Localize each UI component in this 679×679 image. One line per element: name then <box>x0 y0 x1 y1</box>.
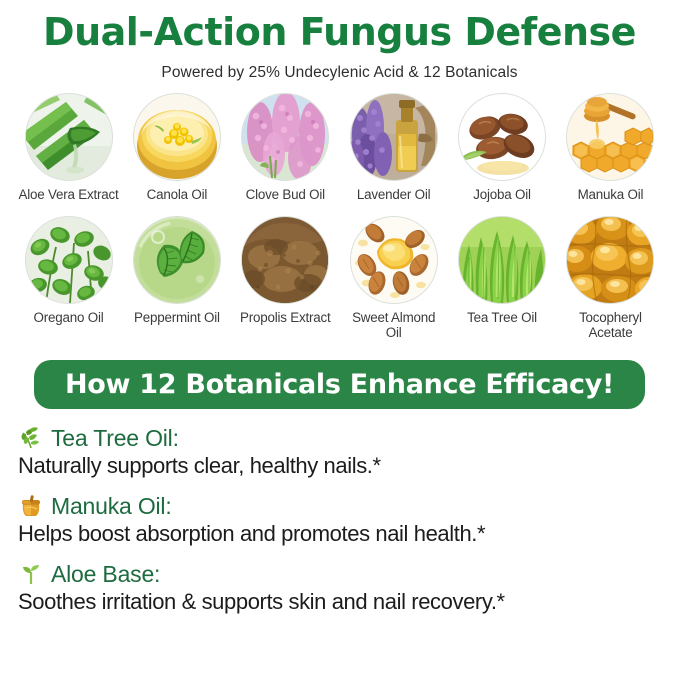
botanical-label: Lavender Oil <box>357 187 431 203</box>
botanical-label: Sweet Almond Oil <box>343 310 444 341</box>
canola-oil-art <box>134 94 220 180</box>
infographic-page: Dual-Action Fungus Defense Powered by 25… <box>0 0 679 679</box>
banner-text: How 12 Botanicals Enhance Efficacy! <box>65 369 614 400</box>
sweet-almond-art <box>351 217 437 303</box>
benefit-manuka-oil: Manuka Oil: Helps boost absorption and p… <box>18 493 661 547</box>
botanical-item-jojoba-oil: Jojoba Oil <box>452 94 553 203</box>
botanicals-grid: Aloe Vera Extract <box>0 94 679 341</box>
botanical-label: Jojoba Oil <box>473 187 531 203</box>
benefit-title: Aloe Base: <box>51 561 160 588</box>
botanical-item-tea-tree: Tea Tree Oil <box>452 217 553 326</box>
benefit-title: Manuka Oil: <box>51 493 172 520</box>
botanical-label: Tocopheryl Acetate <box>560 310 661 341</box>
propolis-extract-art <box>242 217 328 303</box>
oregano-oil-art <box>26 217 112 303</box>
benefits-list: Tea Tree Oil: Naturally supports clear, … <box>0 425 679 615</box>
lavender-oil-circle <box>351 94 437 180</box>
botanical-label: Clove Bud Oil <box>246 187 325 203</box>
tea-tree-circle <box>459 217 545 303</box>
botanical-item-peppermint-oil: Peppermint Oil <box>126 217 227 326</box>
manuka-oil-circle <box>567 94 653 180</box>
benefit-tea-tree-oil: Tea Tree Oil: Naturally supports clear, … <box>18 425 661 479</box>
benefit-aloe-base: Aloe Base: Soothes irritation & supports… <box>18 561 661 615</box>
botanical-label: Tea Tree Oil <box>467 310 537 326</box>
banner-container: How 12 Botanicals Enhance Efficacy! <box>0 360 679 409</box>
botanical-item-sweet-almond: Sweet Almond Oil <box>343 217 444 341</box>
benefit-heading-row: Aloe Base: <box>18 561 661 588</box>
botanical-item-manuka-oil: Manuka Oil <box>560 94 661 203</box>
botanical-item-lavender-oil: Lavender Oil <box>343 94 444 203</box>
canola-oil-circle <box>134 94 220 180</box>
benefit-heading-row: Tea Tree Oil: <box>18 425 661 452</box>
botanical-label: Propolis Extract <box>240 310 331 326</box>
botanical-item-clove-bud: Clove Bud Oil <box>235 94 336 203</box>
herb-leaf-icon <box>18 425 44 451</box>
sweet-almond-circle <box>351 217 437 303</box>
lavender-oil-art <box>351 94 437 180</box>
botanical-label: Peppermint Oil <box>134 310 220 326</box>
jojoba-oil-circle <box>459 94 545 180</box>
benefit-title: Tea Tree Oil: <box>51 425 179 452</box>
page-subtitle: Powered by 25% Undecylenic Acid & 12 Bot… <box>0 64 679 82</box>
peppermint-oil-circle <box>134 217 220 303</box>
efficacy-banner: How 12 Botanicals Enhance Efficacy! <box>34 360 645 409</box>
benefit-description: Naturally supports clear, healthy nails.… <box>18 453 661 479</box>
botanical-label: Canola Oil <box>147 187 208 203</box>
botanicals-row-1: Aloe Vera Extract <box>18 94 661 203</box>
tocopheryl-acetate-art <box>567 217 653 303</box>
botanical-label: Aloe Vera Extract <box>18 187 118 203</box>
botanicals-row-2: Oregano Oil <box>18 217 661 341</box>
clove-bud-art <box>242 94 328 180</box>
botanical-item-tocopheryl-acetate: Tocopheryl Acetate <box>560 217 661 341</box>
jojoba-oil-art <box>459 94 545 180</box>
benefit-heading-row: Manuka Oil: <box>18 493 661 520</box>
manuka-oil-art <box>567 94 653 180</box>
oregano-oil-circle <box>26 217 112 303</box>
botanical-item-propolis-extract: Propolis Extract <box>235 217 336 326</box>
honey-pot-icon <box>18 493 44 519</box>
benefit-description: Soothes irritation & supports skin and n… <box>18 589 661 615</box>
page-title: Dual-Action Fungus Defense <box>0 0 679 51</box>
botanical-item-aloe-vera: Aloe Vera Extract <box>18 94 119 203</box>
botanical-item-canola-oil: Canola Oil <box>126 94 227 203</box>
propolis-extract-circle <box>242 217 328 303</box>
tea-tree-art <box>459 217 545 303</box>
botanical-label: Oregano Oil <box>34 310 104 326</box>
tocopheryl-acetate-circle <box>567 217 653 303</box>
clove-bud-circle <box>242 94 328 180</box>
botanical-label: Manuka Oil <box>578 187 644 203</box>
aloe-vera-art <box>26 94 112 180</box>
benefit-description: Helps boost absorption and promotes nail… <box>18 521 661 547</box>
seedling-icon <box>18 561 44 587</box>
peppermint-oil-art <box>134 217 220 303</box>
aloe-vera-circle <box>26 94 112 180</box>
botanical-item-oregano-oil: Oregano Oil <box>18 217 119 326</box>
